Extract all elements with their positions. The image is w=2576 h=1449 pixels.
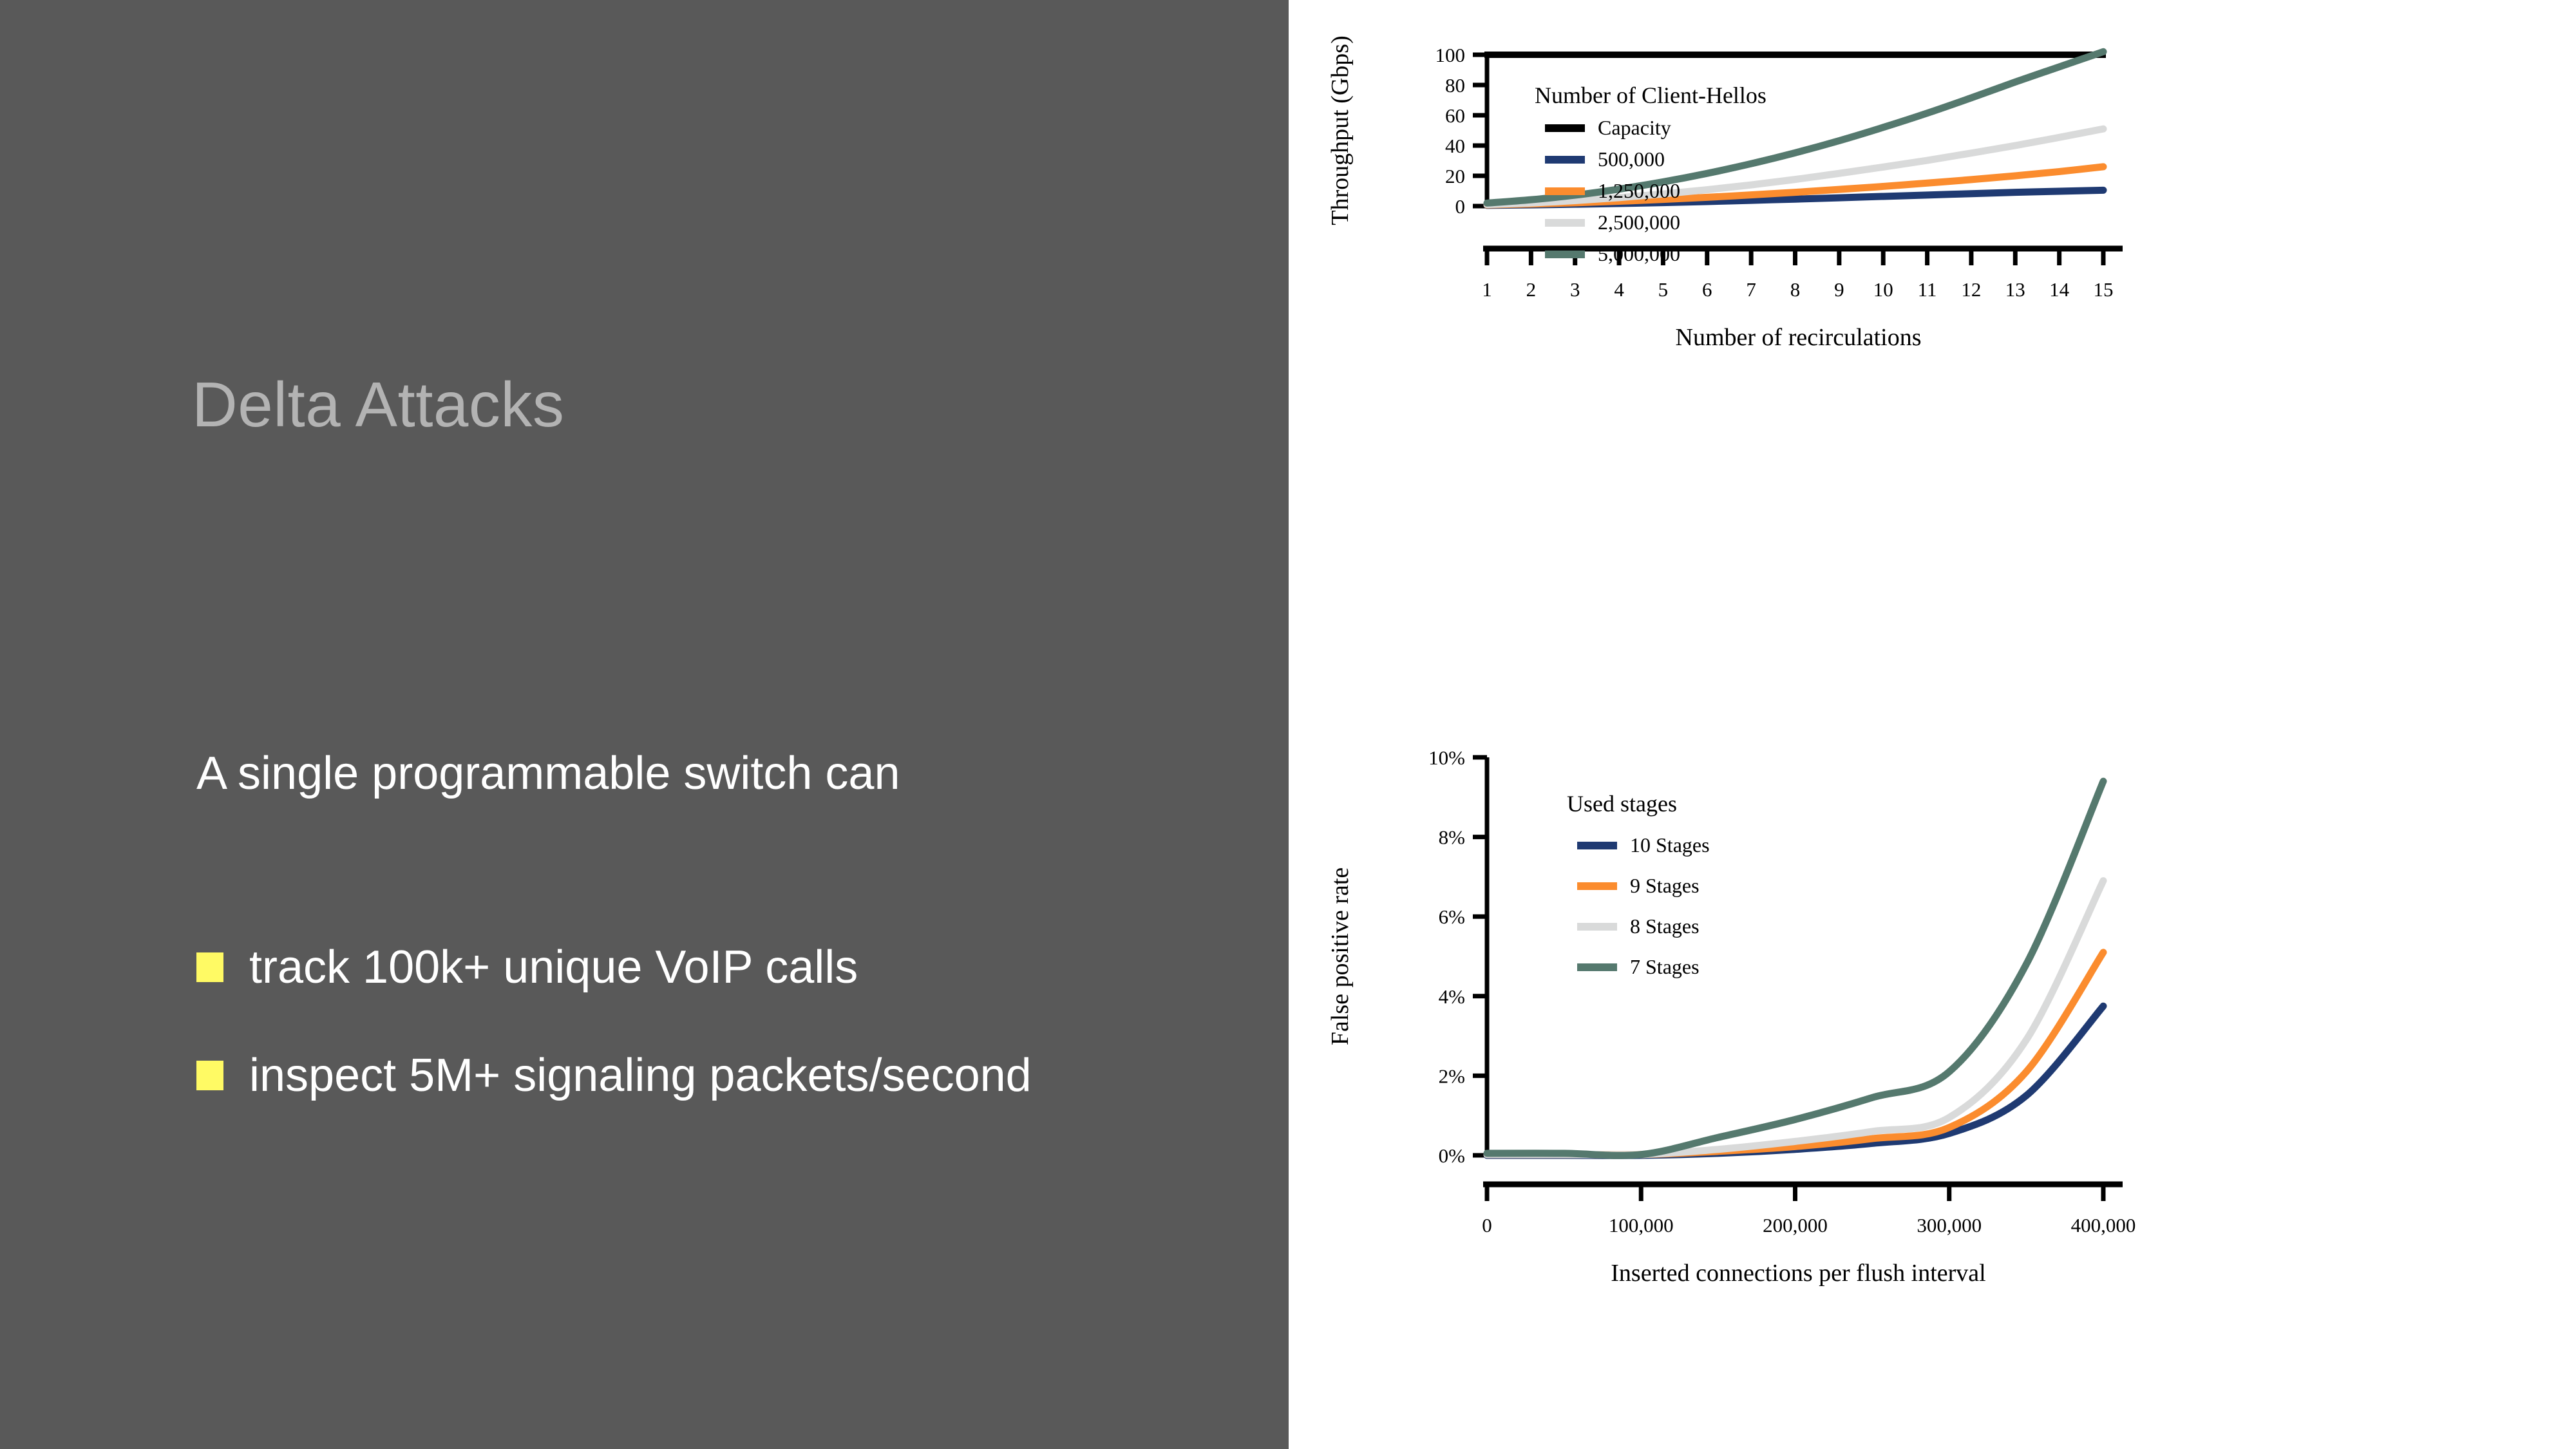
y-axis-tick-label: 8% bbox=[1439, 826, 1465, 849]
x-axis-tick-label: 14 bbox=[2049, 278, 2070, 301]
x-axis-tick-label: 10 bbox=[1873, 278, 1893, 301]
list-item-label: track 100k+ unique VoIP calls bbox=[249, 941, 858, 994]
x-axis-tick-label: 0 bbox=[1482, 1214, 1492, 1236]
x-axis-tick-label: 12 bbox=[1961, 278, 1981, 301]
legend-title: Number of Client-Hellos bbox=[1535, 82, 1766, 108]
x-axis-tick-label: 4 bbox=[1614, 278, 1624, 301]
y-axis-tick-label: 6% bbox=[1439, 905, 1465, 928]
x-axis-tick-label: 7 bbox=[1746, 278, 1756, 301]
legend-entry-label: Capacity bbox=[1598, 116, 1671, 139]
y-axis-tick-label: 60 bbox=[1445, 104, 1465, 127]
slide-left-panel: Delta Attacks A single programmable swit… bbox=[0, 0, 1289, 1449]
series-line-9-stages bbox=[1487, 952, 2103, 1155]
x-axis-tick-label: 6 bbox=[1702, 278, 1712, 301]
chart-canvas-top: 020406080100123456789101112131415Number … bbox=[1289, 26, 2576, 708]
chart-canvas-bottom: 0%2%4%6%8%10%0100,000200,000300,000400,0… bbox=[1289, 715, 2576, 1430]
figure-column: 020406080100123456789101112131415Number … bbox=[1289, 0, 2576, 1449]
yellow-square-icon bbox=[196, 952, 223, 982]
legend-entry-label: 9 Stages bbox=[1630, 874, 1700, 897]
x-axis-tick-label: 3 bbox=[1570, 278, 1580, 301]
y-axis-title: False positive rate bbox=[1327, 867, 1354, 1045]
y-axis-tick-label: 80 bbox=[1445, 74, 1465, 97]
legend-entry-label: 7 Stages bbox=[1630, 955, 1700, 978]
legend-entry-label: 1,250,000 bbox=[1598, 179, 1680, 202]
x-axis-title: Inserted connections per flush interval bbox=[1611, 1260, 1985, 1287]
series-line-8-stages bbox=[1487, 881, 2103, 1155]
list-item: inspect 5M+ signaling packets/second bbox=[196, 1021, 1227, 1130]
x-axis-tick-label: 9 bbox=[1834, 278, 1844, 301]
x-axis-tick-label: 5 bbox=[1658, 278, 1669, 301]
yellow-square-icon bbox=[196, 1061, 223, 1090]
y-axis-tick-label: 4% bbox=[1439, 985, 1465, 1008]
y-axis-tick-label: 40 bbox=[1445, 135, 1465, 157]
x-axis-title: Number of recirculations bbox=[1676, 324, 1922, 351]
x-axis-tick-label: 200,000 bbox=[1763, 1214, 1828, 1236]
legend-title: Used stages bbox=[1567, 791, 1677, 817]
y-axis-tick-label: 2% bbox=[1439, 1065, 1465, 1087]
legend-entry-label: 10 Stages bbox=[1630, 833, 1710, 857]
x-axis-tick-label: 100,000 bbox=[1609, 1214, 1674, 1236]
x-axis-tick-label: 1 bbox=[1482, 278, 1492, 301]
y-axis-tick-label: 20 bbox=[1445, 165, 1465, 187]
x-axis-tick-label: 2 bbox=[1526, 278, 1537, 301]
legend-entry-label: 2,500,000 bbox=[1598, 211, 1680, 234]
y-axis-tick-label: 10% bbox=[1428, 746, 1465, 769]
legend-entry-label: 500,000 bbox=[1598, 147, 1665, 171]
x-axis-tick-label: 8 bbox=[1790, 278, 1801, 301]
list-item: track 100k+ unique VoIP calls bbox=[196, 913, 1227, 1021]
legend-entry-label: 5,000,000 bbox=[1598, 242, 1680, 265]
series-line-10-stages bbox=[1487, 1006, 2103, 1155]
x-axis-tick-label: 300,000 bbox=[1917, 1214, 1982, 1236]
page-title: Delta Attacks bbox=[192, 368, 564, 441]
bullet-list: track 100k+ unique VoIP calls inspect 5M… bbox=[196, 913, 1227, 1130]
list-item-label: inspect 5M+ signaling packets/second bbox=[249, 1049, 1032, 1102]
y-axis-tick-label: 0% bbox=[1439, 1144, 1465, 1167]
x-axis-tick-label: 11 bbox=[1918, 278, 1937, 301]
y-axis-tick-label: 0 bbox=[1455, 195, 1466, 218]
x-axis-tick-label: 15 bbox=[2094, 278, 2114, 301]
y-axis-tick-label: 100 bbox=[1435, 44, 1466, 66]
slide-root: Delta Attacks A single programmable swit… bbox=[0, 0, 2576, 1449]
legend-entry-label: 8 Stages bbox=[1630, 914, 1700, 938]
lead-statement: A single programmable switch can bbox=[196, 747, 900, 800]
x-axis-tick-label: 13 bbox=[2005, 278, 2025, 301]
y-axis-title: Throughput (Gbps) bbox=[1327, 35, 1354, 225]
chart-throughput-vs-recirculations: 020406080100123456789101112131415Number … bbox=[1289, 26, 2576, 708]
x-axis-tick-label: 400,000 bbox=[2071, 1214, 2136, 1236]
chart-false-positive-rate: 0%2%4%6%8%10%0100,000200,000300,000400,0… bbox=[1289, 715, 2576, 1430]
